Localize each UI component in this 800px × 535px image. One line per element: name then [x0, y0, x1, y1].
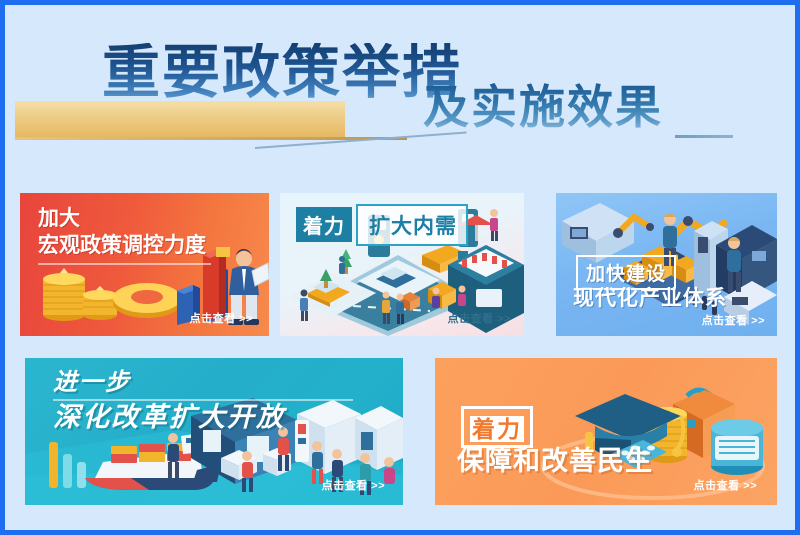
- macro-cta-link[interactable]: 点击查看 >>: [190, 310, 253, 326]
- industry-cta-link[interactable]: 点击查看 >>: [702, 312, 765, 328]
- reform-title-underline: [53, 399, 353, 401]
- industry-line1-box: 加快建设: [576, 255, 676, 290]
- reform-line2: 深化改革扩大开放: [53, 402, 285, 432]
- card-expand-demand[interactable]: 着力 扩大内需 点击查看 >>: [280, 193, 524, 336]
- page-title-block: 重要政策举措 及实施效果: [5, 43, 795, 161]
- page-title-sub: 及实施效果: [423, 83, 663, 131]
- policy-measures-page: 重要政策举措 及实施效果: [0, 0, 800, 535]
- industry-line2: 现代化产业体系: [573, 287, 727, 311]
- demand-outline-box: 扩大内需: [356, 204, 468, 246]
- reform-cta-link[interactable]: 点击查看 >>: [322, 477, 385, 493]
- title-sub-rule: [675, 135, 733, 138]
- card-macro-policy[interactable]: 加大 宏观政策调控力度 点击查看 >>: [20, 193, 269, 336]
- demand-tag-box: 着力: [296, 207, 352, 242]
- livelihood-line2: 保障和改善民生: [457, 446, 653, 476]
- title-accent-bar: [15, 101, 345, 137]
- demand-line2: 扩大内需: [369, 215, 457, 238]
- industry-line1: 加快建设: [586, 264, 666, 285]
- demand-line1: 着力: [303, 216, 345, 238]
- demand-cta-link[interactable]: 点击查看 >>: [448, 310, 511, 326]
- reform-line1: 进一步: [53, 370, 131, 397]
- macro-line1: 加大: [38, 207, 80, 231]
- livelihood-cta-link[interactable]: 点击查看 >>: [694, 477, 757, 493]
- card-modern-industry[interactable]: 加快建设 现代化产业体系 点击查看 >>: [556, 193, 777, 336]
- macro-line2: 宏观政策调控力度: [38, 234, 206, 258]
- card-peoples-livelihood[interactable]: ¥ ¥: [435, 358, 777, 505]
- macro-title-underline: [38, 263, 211, 265]
- livelihood-line1-box: 着力: [461, 406, 533, 448]
- livelihood-line1: 着力: [470, 416, 524, 442]
- page-title-main: 重要政策举措: [102, 43, 462, 104]
- card-reform-opening[interactable]: 进一步 深化改革扩大开放 点击查看 >>: [25, 358, 403, 505]
